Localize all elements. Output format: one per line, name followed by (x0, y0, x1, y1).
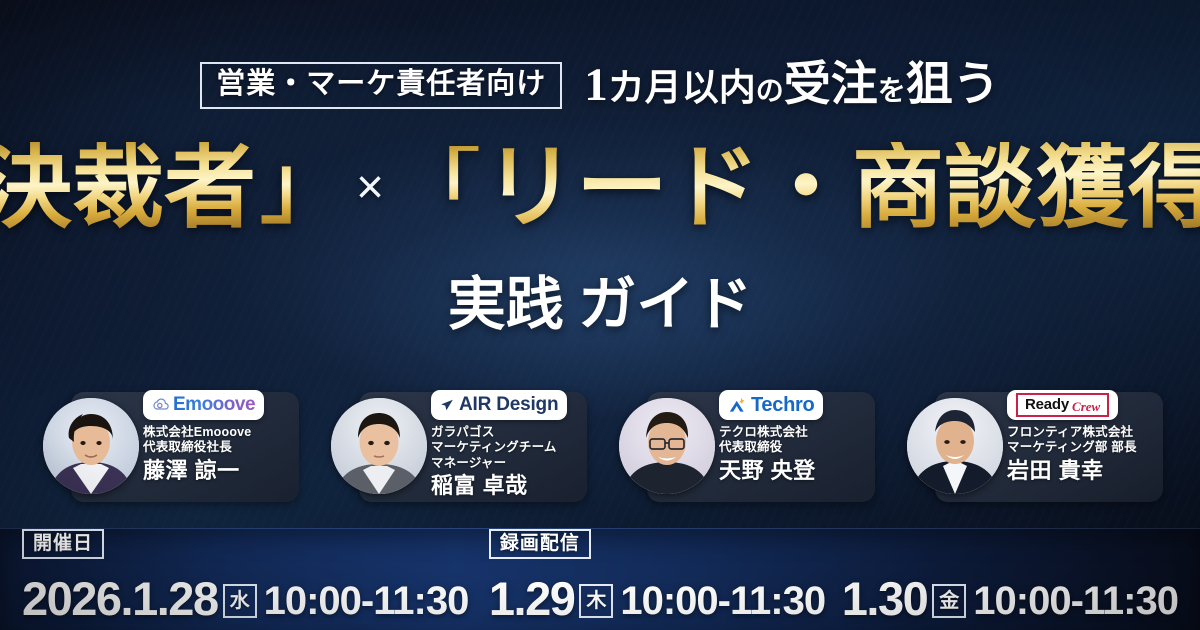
schedule-time: 10:00-11:30 (973, 581, 1178, 621)
schedule-band: 開催日 2026.1.28 水 10:00-11:30 録画配信 1.29 木 … (0, 528, 1200, 630)
schedule-dow-badge: 水 (223, 584, 257, 618)
audience-tag-label: 営業・マーケ責任者向け (216, 70, 546, 99)
company-logo-pill: Ready Crew (1007, 390, 1118, 420)
speaker-company: ガラパゴス (431, 425, 595, 440)
schedule-time: 10:00-11:30 (620, 581, 825, 621)
speaker-company: フロンティア株式会社 (1007, 425, 1171, 440)
readycrew-logo: Ready Crew (1016, 393, 1109, 417)
speaker-card: Ready Crew フロンティア株式会社 マーケティング部 部長 岩田 貴幸 (891, 378, 1173, 514)
avatar-photo-4 (907, 398, 1003, 494)
company-logo-pill: Emooove (143, 390, 264, 420)
subtitle-row: 実践 ガイド (0, 276, 1200, 334)
speaker-name: 天野 央登 (719, 459, 883, 483)
avatar (907, 398, 1003, 494)
schedule-time: 10:00-11:30 (264, 581, 469, 621)
speaker-company: 株式会社Emooove (143, 425, 307, 440)
subhead-part-2: カ月以内 (608, 68, 756, 109)
subhead-part-5: を (878, 76, 906, 107)
schedule-date: 1.30 (842, 575, 927, 622)
schedule-entry-2: 録画配信 1.29 木 10:00-11:30 (489, 575, 825, 622)
schedule-date: 1.29 (489, 575, 574, 622)
chevron-star-icon (728, 397, 747, 414)
subtitle-text: 実践 ガイド (448, 272, 753, 337)
avatar-photo-2 (331, 398, 427, 494)
techro-logo: Techro (728, 394, 814, 417)
main-title-row: 「 決裁者 」 × 「 リード・商談獲得 」 (0, 142, 1200, 234)
title-keyword-2: リード・商談獲得 (484, 142, 1200, 234)
speaker-card: AIR Design ガラパゴス マーケティングチーム マネージャー 稲富 卓哉 (315, 378, 597, 514)
subhead-part-4: 受注 (784, 59, 878, 111)
speaker-name: 藤澤 諒一 (143, 459, 307, 483)
headline-subtext: 1カ月以内の受注を狙う (584, 62, 1000, 109)
schedule-dow-badge: 木 (579, 584, 613, 618)
speaker-role: マーケティングチーム (431, 440, 595, 455)
readycrew-logo-text-2: Crew (1072, 399, 1100, 415)
title-keyword-1: 決裁者 (0, 142, 256, 234)
company-logo-pill: AIR Design (431, 390, 567, 420)
air-design-logo-text: AIR Design (459, 394, 558, 416)
speaker-role: 代表取締役 (719, 440, 883, 455)
subhead-part-1: 1 (584, 59, 608, 111)
title-separator-x: × (356, 164, 384, 212)
audience-tag: 営業・マーケ責任者向け (200, 62, 562, 109)
avatar-photo-3 (619, 398, 715, 494)
emooove-logo: Emooove (152, 394, 255, 416)
speaker-company: テクロ株式会社 (719, 425, 883, 440)
speaker-list: Emooove 株式会社Emooove 代表取締役社長 藤澤 諒一 (0, 378, 1200, 514)
emooove-logo-text: Emooove (173, 394, 255, 416)
speaker-name: 岩田 貴幸 (1007, 459, 1171, 483)
speaker-text-block: Techro テクロ株式会社 代表取締役 天野 央登 (719, 390, 883, 483)
speaker-role-2: マネージャー (431, 456, 595, 471)
speaker-role: 代表取締役社長 (143, 440, 307, 455)
schedule-entry-3: 1.30 金 10:00-11:30 (842, 575, 1178, 622)
avatar (43, 398, 139, 494)
schedule-label-recorded: 録画配信 (489, 529, 591, 559)
readycrew-logo-text-1: Ready (1025, 396, 1069, 413)
paper-plane-icon (440, 398, 454, 412)
schedule-row: 開催日 2026.1.28 水 10:00-11:30 録画配信 1.29 木 … (0, 529, 1200, 630)
speaker-role: マーケティング部 部長 (1007, 440, 1171, 455)
techro-logo-text: Techro (751, 394, 814, 417)
title-open-quote-2: 「 (396, 146, 480, 230)
schedule-label-live: 開催日 (22, 529, 104, 559)
webinar-banner: 営業・マーケ責任者向け 1カ月以内の受注を狙う 「 決裁者 」 × 「 リード・… (0, 0, 1200, 630)
air-design-logo: AIR Design (440, 394, 558, 416)
cloud-swirl-icon (152, 397, 169, 414)
subhead-part-3: の (756, 76, 784, 107)
schedule-entry-1: 開催日 2026.1.28 水 10:00-11:30 (22, 575, 468, 622)
schedule-dow-badge: 金 (932, 584, 966, 618)
speaker-text-block: AIR Design ガラパゴス マーケティングチーム マネージャー 稲富 卓哉 (431, 390, 595, 498)
avatar (331, 398, 427, 494)
speaker-name: 稲富 卓哉 (431, 474, 595, 498)
header-row: 営業・マーケ責任者向け 1カ月以内の受注を狙う (0, 62, 1200, 109)
company-logo-pill: Techro (719, 390, 823, 420)
speaker-text-block: Emooove 株式会社Emooove 代表取締役社長 藤澤 諒一 (143, 390, 307, 483)
avatar (619, 398, 715, 494)
title-close-quote-1: 」 (260, 146, 344, 230)
schedule-date: 2026.1.28 (22, 575, 218, 622)
avatar-photo-1 (43, 398, 139, 494)
speaker-card: Techro テクロ株式会社 代表取締役 天野 央登 (603, 378, 885, 514)
subhead-part-6: 狙う (906, 59, 1000, 111)
speaker-card: Emooove 株式会社Emooove 代表取締役社長 藤澤 諒一 (27, 378, 309, 514)
speaker-text-block: Ready Crew フロンティア株式会社 マーケティング部 部長 岩田 貴幸 (1007, 390, 1171, 483)
